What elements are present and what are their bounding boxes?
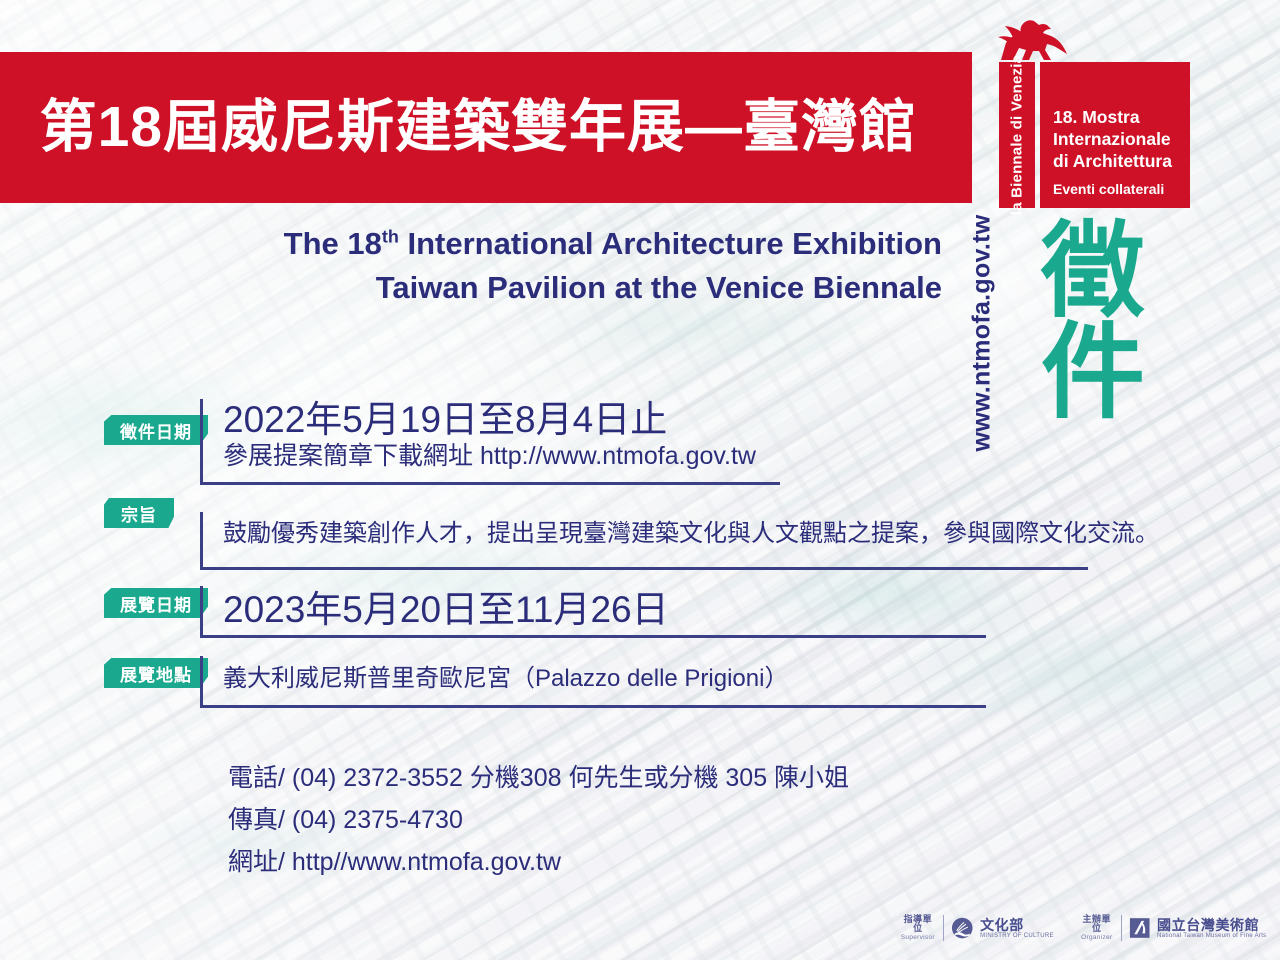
footer-role-supervisor-cn: 指導單位 [900, 915, 936, 935]
tag-exhibition-venue: 展覽地點 [104, 658, 208, 688]
title-en-ordinal: th [382, 227, 399, 247]
biennale-line-4: Eventi collaterali [1053, 181, 1190, 197]
page-title-zh: 第18屆威尼斯建築雙年展—臺灣館 [40, 99, 972, 156]
footer-logo-ministry-of-culture: 指導單位 Supervisor 文化部 MINISTRY OF CULTURE [900, 915, 1054, 942]
footer-logo-ntmofa: 主辦單位 Organizer 國立台灣美術館 National Taiwan M… [1080, 915, 1267, 942]
footer-role-supervisor: 指導單位 Supervisor [900, 915, 936, 942]
red-title-banner: 第18屆威尼斯建築雙年展—臺灣館 [0, 52, 972, 203]
tag-submission-period: 徵件日期 [104, 415, 208, 445]
contact-website[interactable]: 網址/ http//www.ntmofa.gov.tw [228, 842, 988, 884]
submission-guideline-url[interactable]: 參展提案簡章下載網址 http://www.ntmofa.gov.tw [223, 440, 780, 473]
footer-name-ministry-of-culture: 文化部 MINISTRY OF CULTURE [980, 917, 1054, 940]
field-exhibition-venue: 義大利威尼斯普里奇歐尼宮（Palazzo delle Prigioni） [200, 656, 986, 708]
title-en-rest: International Architecture Exhibition [399, 226, 942, 261]
tag-exhibition-period: 展覽日期 [104, 588, 208, 618]
footer-divider-2 [1121, 915, 1122, 941]
biennale-line-2: Internazionale [1053, 128, 1190, 150]
footer-role-organizer-en: Organizer [1080, 934, 1114, 941]
biennale-logo-block: la Biennale di Venezia 18. Mostra Intern… [996, 18, 1208, 208]
field-submission-period: 2022年5月19日至8月4日止 參展提案簡章下載網址 http://www.n… [200, 399, 780, 485]
biennale-line-3: di Architettura [1053, 150, 1190, 172]
biennale-info-box: 18. Mostra Internazionale di Architettur… [1040, 62, 1190, 208]
tag-purpose: 宗旨 [104, 498, 174, 528]
contact-phone: 電話/ (04) 2372-3552 分機308 何先生或分機 305 陳小姐 [228, 758, 988, 800]
footer-divider-1 [943, 915, 944, 941]
winged-lion-icon [995, 16, 1069, 64]
exhibition-period-dates: 2023年5月20日至11月26日 [223, 589, 986, 630]
page-title-en: The 18th International Architecture Exhi… [0, 222, 942, 310]
footer-name-ntmofa-en: National Taiwan Museum of Fine Arts [1157, 933, 1266, 940]
footer-name-moc-en: MINISTRY OF CULTURE [980, 933, 1054, 940]
page-title-en-line2: Taiwan Pavilion at the Venice Biennale [0, 266, 942, 310]
title-en-prefix: The 18 [284, 226, 382, 261]
purpose-text: 鼓勵優秀建築創作人才，提出呈現臺灣建築文化與人文觀點之提案，參與國際文化交流。 [223, 518, 1088, 549]
page-title-en-line1: The 18th International Architecture Exhi… [0, 222, 942, 266]
footer-name-moc-cn: 文化部 [980, 917, 1054, 933]
poster-canvas: 第18屆威尼斯建築雙年展—臺灣館 The 18th International … [0, 0, 1280, 960]
submission-period-dates: 2022年5月19日至8月4日止 [223, 399, 780, 440]
vertical-website-url: www.ntmofa.gov.tw [962, 208, 1002, 458]
vertical-website-url-label: www.ntmofa.gov.tw [968, 214, 997, 451]
call-for-entries-headline: 徵件 [1028, 222, 1158, 424]
footer-name-ntmofa: 國立台灣美術館 National Taiwan Museum of Fine A… [1157, 917, 1266, 940]
ministry-of-culture-icon [951, 916, 974, 940]
ntmofa-icon [1129, 916, 1150, 940]
footer-role-organizer-cn: 主辦單位 [1080, 915, 1114, 935]
footer-name-ntmofa-cn: 國立台灣美術館 [1157, 917, 1266, 933]
biennale-line-1: 18. Mostra [1053, 106, 1190, 128]
biennale-spine: la Biennale di Venezia [999, 62, 1035, 208]
footer-role-supervisor-en: Supervisor [900, 934, 936, 941]
footer-logos: 指導單位 Supervisor 文化部 MINISTRY OF CULTURE … [900, 905, 1260, 951]
field-purpose: 鼓勵優秀建築創作人才，提出呈現臺灣建築文化與人文觀點之提案，參與國際文化交流。 [200, 512, 1088, 570]
field-exhibition-period: 2023年5月20日至11月26日 [200, 586, 986, 638]
contact-fax: 傳真/ (04) 2375-4730 [228, 800, 988, 842]
footer-role-organizer: 主辦單位 Organizer [1080, 915, 1114, 942]
contact-block: 電話/ (04) 2372-3552 分機308 何先生或分機 305 陳小姐 … [228, 758, 988, 883]
exhibition-venue-text: 義大利威尼斯普里奇歐尼宮（Palazzo delle Prigioni） [223, 663, 986, 694]
biennale-spine-label: la Biennale di Venezia [1009, 55, 1026, 215]
